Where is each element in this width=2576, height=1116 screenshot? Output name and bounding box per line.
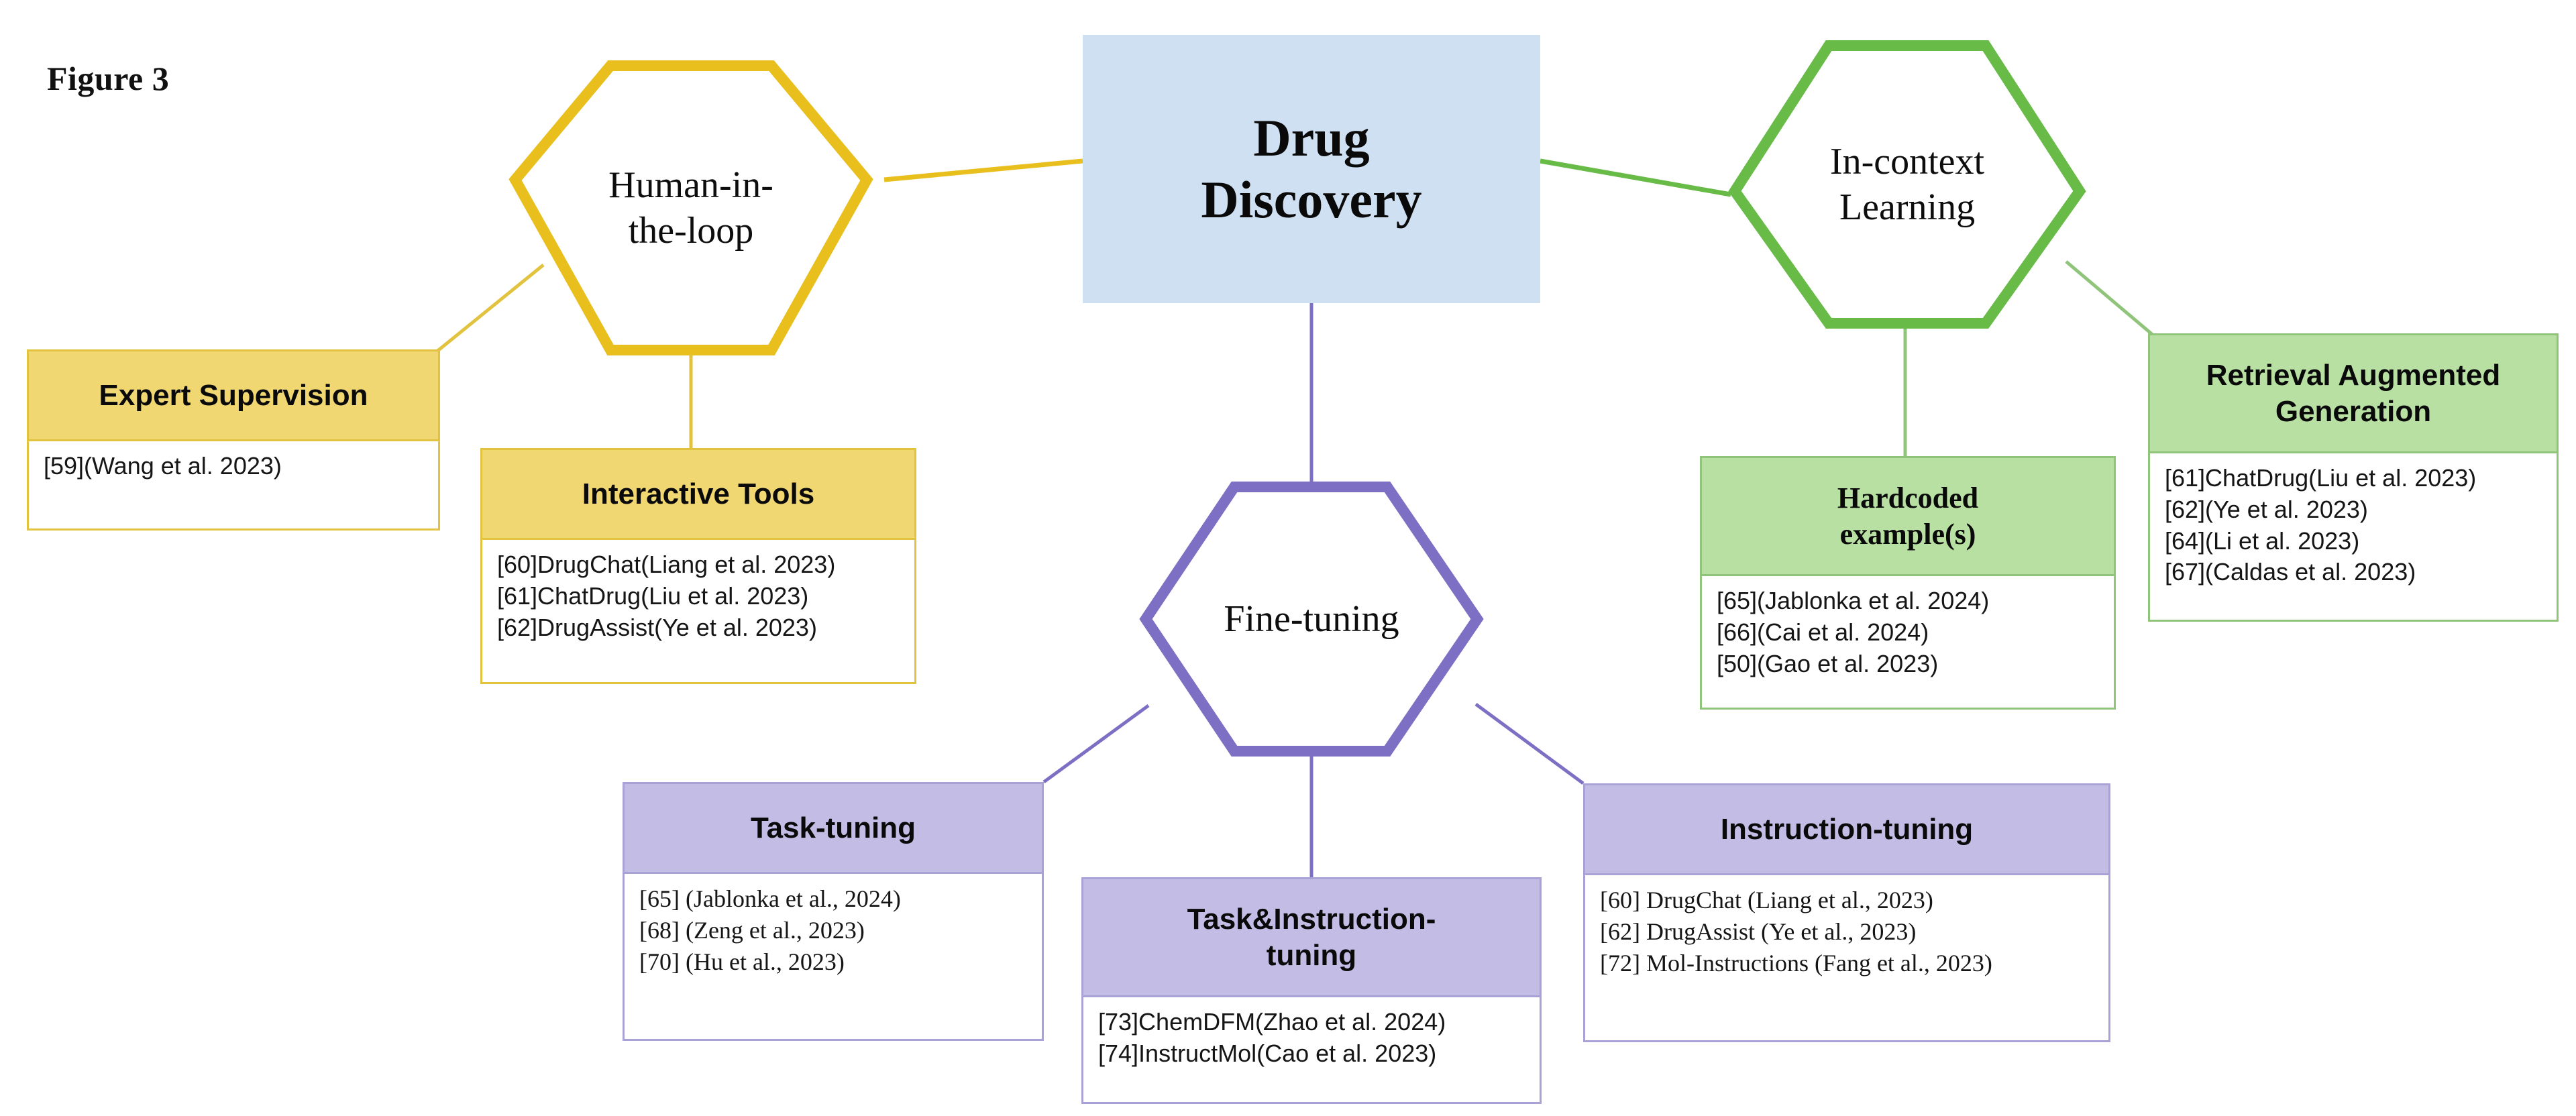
- card-citations: [61]ChatDrug(Liu et al. 2023) [62](Ye et…: [2150, 453, 2557, 620]
- card-title-line1: Retrieval Augmented: [2206, 357, 2500, 394]
- hex-node-label-line1: Human-in-: [608, 162, 773, 208]
- hex-node-label-line1: In-context: [1830, 139, 1984, 184]
- card-title-line2: Generation: [2275, 394, 2431, 430]
- card-citations: [60]DrugChat(Liang et al. 2023) [61]Chat…: [482, 540, 914, 682]
- citation-item: [65] (Jablonka et al., 2024): [639, 883, 1027, 915]
- figure-label: Figure 3: [47, 59, 169, 98]
- card-title-line2: example(s): [1840, 516, 1976, 553]
- hex-node-fine-tuning[interactable]: Fine-tuning: [1140, 482, 1483, 757]
- center-node-drug-discovery[interactable]: Drug Discovery: [1083, 35, 1540, 303]
- center-node-label-line2: Discovery: [1201, 169, 1421, 231]
- card-title: Task-tuning: [625, 784, 1042, 874]
- citation-item: [74]InstructMol(Cao et al. 2023): [1098, 1038, 1525, 1070]
- card-citations: [73]ChemDFM(Zhao et al. 2024) [74]Instru…: [1083, 997, 1540, 1102]
- card-title: Hardcoded example(s): [1702, 458, 2114, 576]
- citation-item: [62]DrugAssist(Ye et al. 2023): [497, 612, 900, 644]
- hex-node-human-in-the-loop[interactable]: Human-in- the-loop: [510, 60, 872, 355]
- card-retrieval-augmented-generation[interactable]: Retrieval Augmented Generation [61]ChatD…: [2148, 333, 2559, 622]
- hex-node-label: Fine-tuning: [1140, 482, 1483, 757]
- edge-center-to-in-context-learning: [1540, 161, 1731, 194]
- citation-item: [68] (Zeng et al., 2023): [639, 915, 1027, 946]
- card-citations: [59](Wang et al. 2023): [29, 441, 438, 528]
- citation-item: [70] (Hu et al., 2023): [639, 946, 1027, 978]
- edge-center-to-human-in-the-loop: [884, 161, 1083, 180]
- citation-item: [67](Caldas et al. 2023): [2165, 557, 2542, 588]
- citation-item: [66](Cai et al. 2024): [1717, 617, 2099, 649]
- citation-item: [72] Mol-Instructions (Fang et al., 2023…: [1600, 948, 2094, 979]
- card-task-and-instruction-tuning[interactable]: Task&Instruction- tuning [73]ChemDFM(Zha…: [1081, 877, 1542, 1104]
- center-node-label: Drug Discovery: [1201, 107, 1421, 231]
- card-expert-supervision[interactable]: Expert Supervision [59](Wang et al. 2023…: [27, 349, 440, 531]
- card-hardcoded-examples[interactable]: Hardcoded example(s) [65](Jablonka et al…: [1700, 456, 2116, 710]
- edge-fine-tuning-to-task-tuning: [1044, 706, 1148, 782]
- card-title-line2: tuning: [1267, 938, 1356, 974]
- hex-node-label: In-context Learning: [1729, 40, 2085, 329]
- citation-item: [60] DrugChat (Liang et al., 2023): [1600, 885, 2094, 916]
- card-title: Interactive Tools: [482, 450, 914, 540]
- citation-item: [59](Wang et al. 2023): [44, 451, 423, 482]
- card-title: Retrieval Augmented Generation: [2150, 335, 2557, 453]
- edge-fine-tuning-to-instruction-tuning: [1476, 704, 1583, 783]
- citation-item: [50](Gao et al. 2023): [1717, 649, 2099, 680]
- citation-item: [64](Li et al. 2023): [2165, 526, 2542, 557]
- card-title-line1: Task&Instruction-: [1187, 901, 1436, 938]
- hex-node-label-line2: the-loop: [608, 208, 773, 254]
- hex-node-in-context-learning[interactable]: In-context Learning: [1729, 40, 2085, 329]
- citation-item: [60]DrugChat(Liang et al. 2023): [497, 549, 900, 581]
- mindmap-canvas: Figure 3 Drug Discovery Human-in- the-lo…: [0, 0, 2576, 1116]
- hex-node-label-line1: Fine-tuning: [1224, 596, 1399, 642]
- citation-item: [65](Jablonka et al. 2024): [1717, 585, 2099, 617]
- hex-node-label: Human-in- the-loop: [510, 60, 872, 355]
- card-citations: [65](Jablonka et al. 2024) [66](Cai et a…: [1702, 576, 2114, 708]
- card-title: Expert Supervision: [29, 351, 438, 441]
- citation-item: [61]ChatDrug(Liu et al. 2023): [2165, 463, 2542, 494]
- card-task-tuning[interactable]: Task-tuning [65] (Jablonka et al., 2024)…: [623, 782, 1044, 1041]
- card-citations: [60] DrugChat (Liang et al., 2023) [62] …: [1585, 875, 2108, 1040]
- citation-item: [61]ChatDrug(Liu et al. 2023): [497, 581, 900, 612]
- citation-item: [62] DrugAssist (Ye et al., 2023): [1600, 916, 2094, 948]
- citation-item: [62](Ye et al. 2023): [2165, 494, 2542, 526]
- card-citations: [65] (Jablonka et al., 2024) [68] (Zeng …: [625, 874, 1042, 1039]
- center-node-label-line1: Drug: [1201, 107, 1421, 169]
- card-title-line1: Hardcoded: [1837, 480, 1978, 516]
- hex-node-label-line2: Learning: [1830, 184, 1984, 230]
- card-instruction-tuning[interactable]: Instruction-tuning [60] DrugChat (Liang …: [1583, 783, 2110, 1042]
- citation-item: [73]ChemDFM(Zhao et al. 2024): [1098, 1007, 1525, 1038]
- card-interactive-tools[interactable]: Interactive Tools [60]DrugChat(Liang et …: [480, 448, 916, 684]
- card-title: Instruction-tuning: [1585, 785, 2108, 875]
- card-title: Task&Instruction- tuning: [1083, 879, 1540, 997]
